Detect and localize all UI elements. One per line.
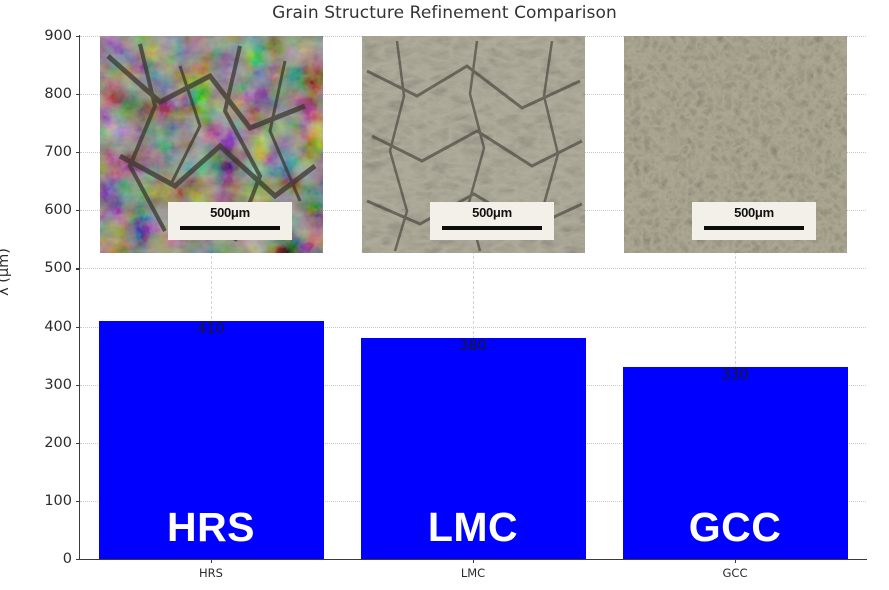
ytick-label-400: 400 (10, 319, 72, 335)
scalebar-label-hrs: 500μm (168, 205, 292, 220)
scalebar-line-gcc (704, 226, 804, 230)
ytick-label-300: 300 (10, 377, 72, 393)
bar-value-gcc: 330 (722, 367, 749, 383)
ytick-label-200: 200 (10, 435, 72, 451)
ytick-label-900: 900 (10, 28, 72, 44)
scalebar-box-hrs: 500μm (168, 202, 292, 240)
ytick-mark-800 (76, 94, 80, 95)
ytick-mark-500 (76, 268, 80, 269)
ytick-mark-0 (76, 559, 80, 560)
ytick-label-700: 700 (10, 144, 72, 160)
xtick-mark-gcc (735, 559, 736, 563)
xtick-label-hrs: HRS (199, 566, 223, 580)
scalebar-label-lmc: 500μm (430, 205, 554, 220)
xtick-mark-lmc (473, 559, 474, 563)
xtick-mark-hrs (211, 559, 212, 563)
bar-value-hrs: 410 (198, 321, 225, 337)
figure-canvas: Grain Structure Refinement Comparison (0, 0, 889, 590)
ytick-mark-200 (76, 443, 80, 444)
ytick-mark-400 (76, 327, 80, 328)
bar-overlay-label-gcc: GCC (689, 504, 782, 551)
scalebar-line-lmc (442, 226, 542, 230)
micrograph-gcc: 500μm (624, 36, 847, 253)
xtick-label-lmc: LMC (461, 566, 485, 580)
ytick-label-0: 0 (10, 551, 72, 567)
scalebar-label-gcc: 500μm (692, 205, 816, 220)
bar-value-lmc: 380 (460, 338, 487, 354)
ytick-label-100: 100 (10, 493, 72, 509)
micrograph-hrs: 500μm (100, 36, 323, 253)
ytick-mark-300 (76, 385, 80, 386)
scalebar-box-gcc: 500μm (692, 202, 816, 240)
ytick-label-500: 500 (10, 260, 72, 276)
micrograph-lmc: 500μm (362, 36, 585, 253)
xtick-label-gcc: GCC (723, 566, 748, 580)
bar-overlay-label-lmc: LMC (428, 504, 518, 551)
ytick-label-800: 800 (10, 86, 72, 102)
ytick-mark-700 (76, 152, 80, 153)
plot-area: 410 380 330 HRS LMC GCC (80, 36, 866, 559)
ytick-mark-600 (76, 210, 80, 211)
ytick-mark-900 (76, 36, 80, 37)
ytick-label-600: 600 (10, 202, 72, 218)
ytick-mark-100 (76, 501, 80, 502)
bar-overlay-label-hrs: HRS (167, 504, 255, 551)
chart-title: Grain Structure Refinement Comparison (0, 3, 889, 23)
y-axis-label: λ (μm) (0, 248, 12, 296)
scalebar-box-lmc: 500μm (430, 202, 554, 240)
scalebar-line-hrs (180, 226, 280, 230)
